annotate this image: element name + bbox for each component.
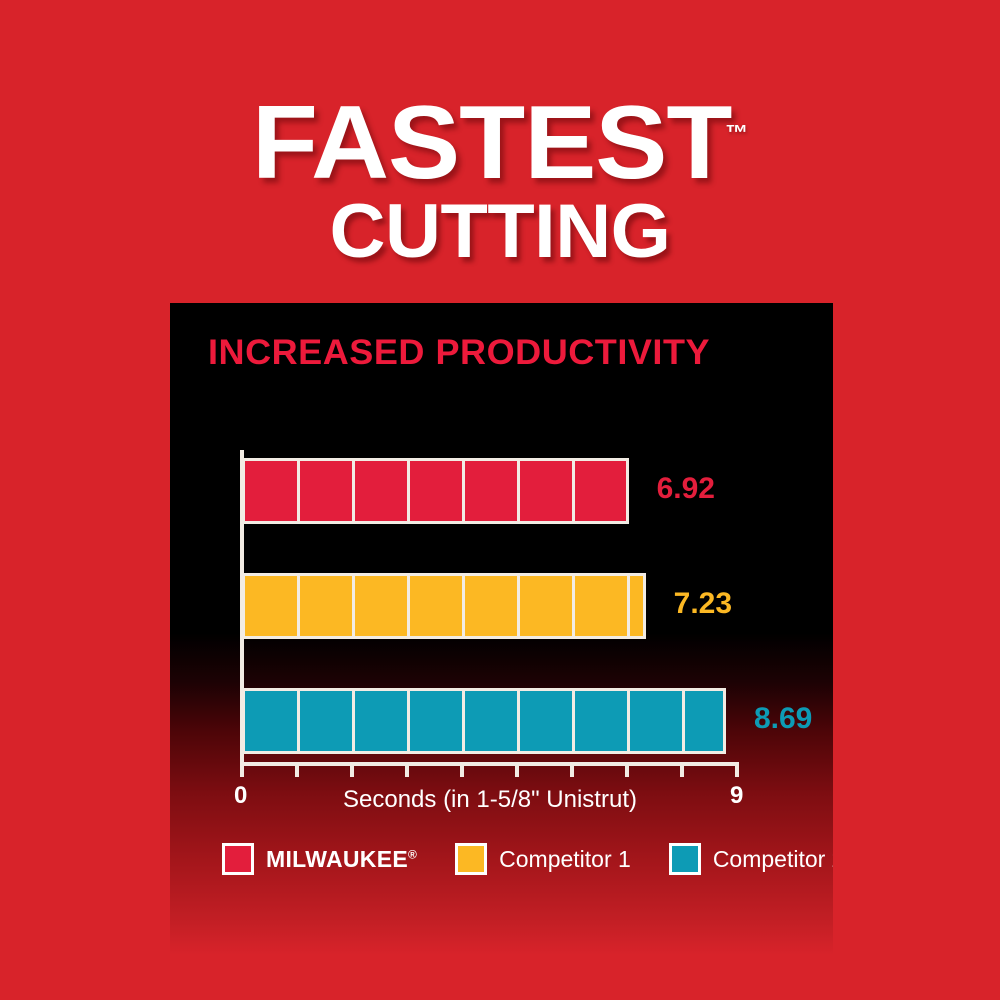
bar-value-label: 8.69	[754, 702, 812, 736]
x-axis-tick	[405, 762, 409, 777]
x-axis-title: Seconds (in 1-5/8" Unistrut)	[270, 786, 710, 814]
bar-segment	[245, 691, 300, 751]
bar-segment	[355, 691, 410, 751]
bar-segment	[520, 691, 575, 751]
registered-symbol: ®	[408, 847, 417, 861]
headline-block: FASTEST™ CUTTING	[0, 96, 1000, 269]
legend-item: Competitor 1	[455, 843, 631, 875]
trademark-symbol: ™	[725, 120, 748, 145]
bar-segment	[465, 461, 520, 521]
bar-segment	[465, 576, 520, 636]
x-axis-max-label: 9	[730, 782, 743, 810]
x-axis-tick	[680, 762, 684, 777]
headline-primary: FASTEST™	[0, 96, 1000, 192]
headline-secondary: CUTTING	[0, 196, 1000, 269]
bar-segment	[685, 691, 723, 751]
bar-value-label: 6.92	[657, 472, 715, 506]
x-axis-min-label: 0	[234, 782, 247, 810]
legend-label: Competitor 1	[499, 846, 631, 873]
bar-segment	[410, 691, 465, 751]
x-axis-tick	[570, 762, 574, 777]
bar-segment	[355, 576, 410, 636]
bar-segment	[575, 576, 630, 636]
legend-swatch	[222, 843, 254, 875]
bar-segment	[520, 461, 575, 521]
bar	[242, 688, 726, 754]
headline-primary-text: FASTEST	[252, 85, 732, 201]
bar	[242, 573, 646, 639]
legend-label: Competitor 2	[713, 846, 833, 873]
legend-item: MILWAUKEE®	[222, 843, 417, 875]
chart-legend: MILWAUKEE®Competitor 1Competitor 2	[222, 843, 822, 875]
legend-label: MILWAUKEE®	[266, 846, 417, 873]
bar-segment	[300, 461, 355, 521]
bar-segment	[300, 576, 355, 636]
legend-swatch	[669, 843, 701, 875]
x-axis-tick	[735, 762, 739, 777]
x-axis-tick	[350, 762, 354, 777]
bar-segment	[245, 461, 300, 521]
bar-segment	[630, 691, 685, 751]
bar-segment	[410, 461, 465, 521]
legend-swatch	[455, 843, 487, 875]
x-axis-tick	[460, 762, 464, 777]
bar-segment	[355, 461, 410, 521]
bar-segment	[410, 576, 465, 636]
x-axis-line	[240, 762, 737, 766]
x-axis-tick	[515, 762, 519, 777]
x-axis-tick	[625, 762, 629, 777]
bar-segment	[465, 691, 520, 751]
bar-segment	[245, 576, 300, 636]
bar-segment	[300, 691, 355, 751]
bar	[242, 458, 629, 524]
bar-segment	[630, 576, 643, 636]
bar-segment	[520, 576, 575, 636]
x-axis-tick	[295, 762, 299, 777]
legend-item: Competitor 2	[669, 843, 833, 875]
x-axis-tick	[240, 762, 244, 777]
bar-segment	[575, 691, 630, 751]
bar-segment	[575, 461, 626, 521]
bar-value-label: 7.23	[674, 587, 732, 621]
chart-panel: INCREASED PRODUCTIVITY 6.927.238.69 0 9 …	[170, 303, 833, 955]
